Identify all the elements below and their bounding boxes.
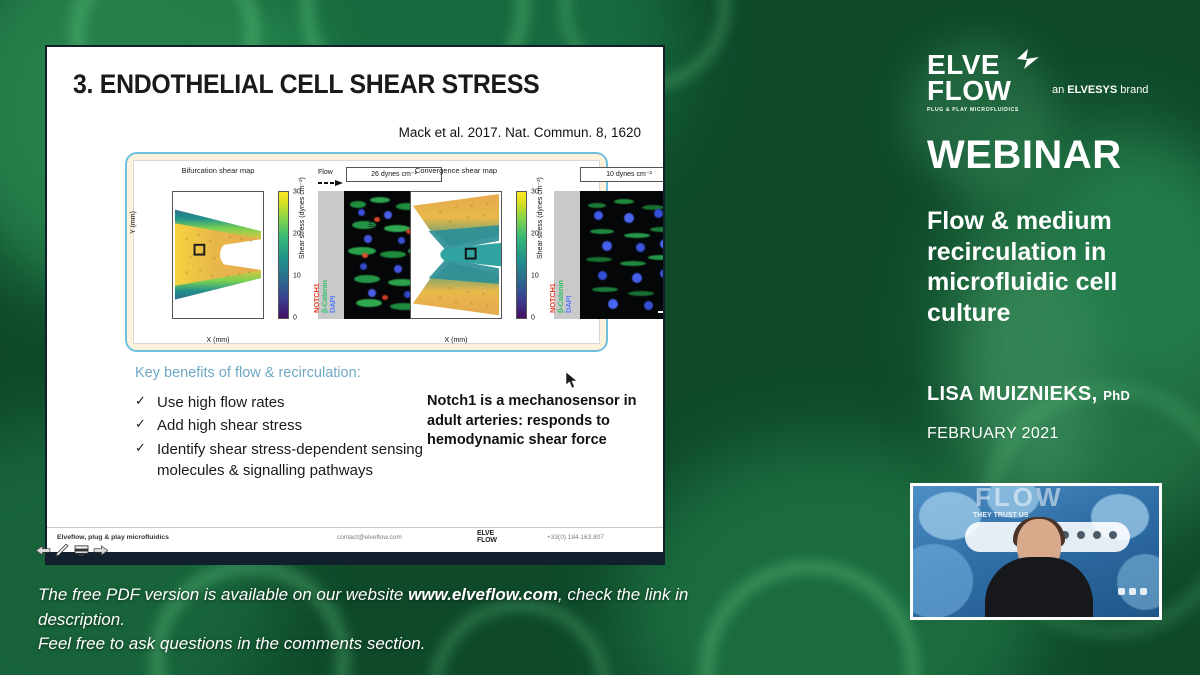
slide-bottom-strip bbox=[47, 552, 663, 563]
list-item-label: Use high flow rates bbox=[157, 392, 285, 413]
ylabel-bifurcation: Y (mm) bbox=[130, 211, 137, 234]
speaker-name: LISA MUIZNIEKS, PhD bbox=[927, 383, 1130, 406]
caption-line-2: Feel free to ask questions in the commen… bbox=[38, 632, 738, 657]
fluorescence-image-convergence bbox=[580, 191, 665, 319]
talk-title: Flow & medium recirculation in microflui… bbox=[927, 206, 1137, 328]
flow-arrow-icon bbox=[318, 180, 344, 186]
scale-bar bbox=[658, 311, 665, 314]
elveflow-logo: ELVE FLOW PLUG & PLAY MICROFLUIDICS an E… bbox=[927, 52, 1019, 113]
list-item: ✓ Identify shear stress-dependent sensin… bbox=[135, 439, 465, 482]
citation-text: Mack et al. 2017. Nat. Commun. 8, 1620 bbox=[399, 125, 641, 140]
brand-line-2: FLOW bbox=[927, 78, 1019, 104]
backdrop-subword: THEY TRUST US bbox=[973, 512, 1029, 519]
slide-footer: Elveflow, plug & play microfluidics cont… bbox=[47, 527, 663, 549]
footer-phone: +33(0).184.163.807 bbox=[547, 534, 604, 541]
caption-text: The free PDF version is available on our… bbox=[38, 583, 738, 657]
check-icon: ✓ bbox=[135, 392, 147, 413]
presentation-slide[interactable]: 3. ENDOTHELIAL CELL SHEAR STRESS Mack et… bbox=[45, 45, 665, 565]
dose-label-10: 10 dynes cm⁻² bbox=[580, 167, 665, 182]
colorbar-bifurcation bbox=[278, 191, 289, 319]
panel-convergence: Convergence shear map bbox=[374, 161, 608, 343]
benefits-list: ✓ Use high flow rates ✓ Add high shear s… bbox=[135, 392, 465, 483]
backdrop-word: FLOW bbox=[975, 483, 1064, 513]
cbartick-bif-0: 0 bbox=[293, 315, 297, 322]
next-arrow-icon[interactable] bbox=[93, 544, 108, 557]
panel-bifurcation: Bifurcation shear map bbox=[136, 161, 372, 343]
list-item-label: Identify shear stress-dependent sensing … bbox=[157, 439, 465, 482]
mouse-cursor bbox=[566, 372, 578, 389]
shear-map-bifurcation: 4 2 0 −2 −4 −12 −10 −8 −6 bbox=[172, 191, 264, 319]
speaker-degree: PhD bbox=[1103, 388, 1130, 403]
map-title-convergence: Convergence shear map bbox=[404, 166, 508, 175]
webinar-heading: WEBINAR bbox=[927, 133, 1122, 178]
footer-tagline: Elveflow, plug & play microfluidics bbox=[57, 534, 169, 541]
list-item-label: Add high shear stress bbox=[157, 415, 302, 436]
key-benefits-heading: Key benefits of flow & recirculation: bbox=[135, 365, 361, 381]
figure-card: Bifurcation shear map bbox=[125, 152, 608, 352]
slide-area: 3. ENDOTHELIAL CELL SHEAR STRESS Mack et… bbox=[0, 0, 905, 675]
bifurcation-wedge-svg bbox=[173, 192, 263, 317]
pen-icon[interactable] bbox=[55, 544, 70, 557]
convergence-wedge-svg bbox=[411, 192, 501, 317]
slide-title: 3. ENDOTHELIAL CELL SHEAR STRESS bbox=[73, 69, 539, 100]
xlabel-bifurcation: X (mm) bbox=[172, 337, 264, 344]
ylabel-convergence: Y (mm) bbox=[368, 211, 375, 234]
brand-sub-a: an bbox=[1052, 84, 1067, 96]
brand-subtitle: an ELVESYS brand bbox=[1052, 84, 1148, 96]
caption-line1-a: The free PDF version is available on our… bbox=[38, 585, 408, 604]
social-icons bbox=[1118, 588, 1147, 595]
webcam-video[interactable]: FLOW THEY TRUST US bbox=[910, 483, 1162, 620]
footer-email: contact@elveflow.com bbox=[337, 534, 402, 541]
figure-inner-panel: Bifurcation shear map bbox=[133, 160, 600, 344]
notch1-note: Notch1 is a mechanosensor in adult arter… bbox=[427, 392, 642, 451]
cbartick-conv-10: 10 bbox=[531, 273, 539, 280]
colorbar-label-convergence: Shear stress (dynes cm⁻²) bbox=[536, 177, 544, 259]
check-icon: ✓ bbox=[135, 415, 147, 436]
footer-logo: ELVE FLOW bbox=[477, 530, 497, 544]
caption-website-link[interactable]: www.elveflow.com bbox=[408, 585, 558, 604]
webinar-date: FEBRUARY 2021 bbox=[927, 425, 1059, 443]
channel-dapi: DAPI bbox=[328, 296, 337, 313]
caption-line-1: The free PDF version is available on our… bbox=[38, 583, 738, 632]
screen-icon[interactable] bbox=[74, 544, 89, 557]
channel-dapi: DAPI bbox=[564, 296, 573, 313]
brand-tagline: PLUG & PLAY MICROFLUIDICS bbox=[927, 107, 1019, 113]
check-icon: ✓ bbox=[135, 439, 147, 482]
presentation-controls[interactable] bbox=[36, 544, 108, 557]
map-title-bifurcation: Bifurcation shear map bbox=[166, 166, 270, 175]
cbartick-conv-0: 0 bbox=[531, 315, 535, 322]
shear-map-convergence: 4 2 0 −2 −4 6 8 10 12 bbox=[410, 191, 502, 319]
list-item: ✓ Add high shear stress bbox=[135, 415, 465, 436]
xlabel-convergence: X (mm) bbox=[410, 337, 502, 344]
channel-legend-bifurcation: NOTCH1 β-Catenin DAPI bbox=[318, 191, 344, 319]
flow-label: Flow bbox=[318, 169, 333, 176]
kite-icon bbox=[1015, 48, 1041, 70]
footer-logo-line2: FLOW bbox=[477, 537, 497, 544]
speaker-fullname: LISA MUIZNIEKS, bbox=[927, 383, 1097, 405]
colorbar-convergence bbox=[516, 191, 527, 319]
brand-sub-c: brand bbox=[1117, 84, 1148, 96]
elvesys-name: ELVESYS bbox=[1067, 84, 1117, 96]
footer-logo-line1: ELVE bbox=[477, 530, 497, 537]
colorbar-label-bifurcation: Shear stress (dynes cm⁻²) bbox=[298, 177, 306, 259]
prev-arrow-icon[interactable] bbox=[36, 544, 51, 557]
channel-legend-convergence: NOTCH1 β-Catenin DAPI bbox=[554, 191, 580, 319]
brand-line-1: ELVE bbox=[927, 52, 1019, 78]
cbartick-bif-10: 10 bbox=[293, 273, 301, 280]
list-item: ✓ Use high flow rates bbox=[135, 392, 465, 413]
